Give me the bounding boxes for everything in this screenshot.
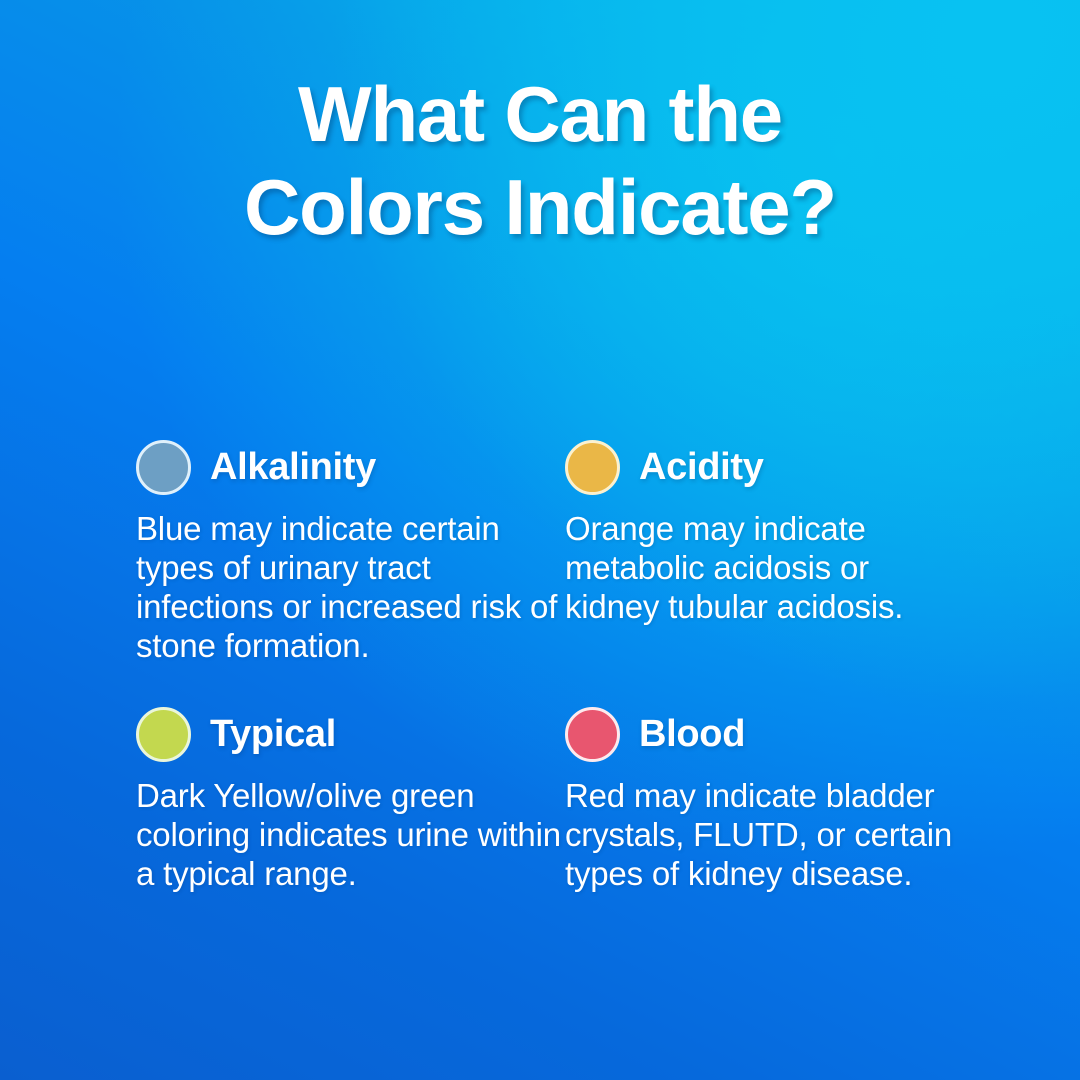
- blood-swatch: [565, 707, 620, 762]
- color-legend-grid: Alkalinity Blue may indicate certain typ…: [136, 437, 964, 893]
- legend-item-description: Blue may indicate certain types of urina…: [136, 509, 565, 665]
- alkalinity-swatch: [136, 440, 191, 495]
- legend-item-description: Red may indicate bladder crystals, FLUTD…: [565, 776, 964, 893]
- legend-item-title: Blood: [639, 713, 745, 756]
- legend-item-title: Acidity: [639, 446, 764, 489]
- legend-item-typical: Typical Dark Yellow/olive green coloring…: [136, 704, 565, 893]
- title-line-2: Colors Indicate?: [0, 161, 1080, 254]
- legend-item-blood: Blood Red may indicate bladder crystals,…: [565, 704, 964, 893]
- legend-item-description: Orange may indicate metabolic acidosis o…: [565, 509, 964, 626]
- acidity-swatch: [565, 440, 620, 495]
- legend-item-header: Alkalinity: [136, 437, 565, 497]
- legend-item-description: Dark Yellow/olive green coloring indicat…: [136, 776, 565, 893]
- legend-item-header: Acidity: [565, 437, 964, 497]
- legend-item-title: Alkalinity: [210, 446, 376, 489]
- legend-item-header: Typical: [136, 704, 565, 764]
- typical-swatch: [136, 707, 191, 762]
- legend-item-header: Blood: [565, 704, 964, 764]
- page-title: What Can the Colors Indicate?: [0, 68, 1080, 254]
- legend-item-title: Typical: [210, 713, 336, 756]
- infographic-card: What Can the Colors Indicate? Alkalinity…: [0, 0, 1080, 1080]
- legend-item-acidity: Acidity Orange may indicate metabolic ac…: [565, 437, 964, 665]
- title-line-1: What Can the: [0, 68, 1080, 161]
- legend-item-alkalinity: Alkalinity Blue may indicate certain typ…: [136, 437, 565, 665]
